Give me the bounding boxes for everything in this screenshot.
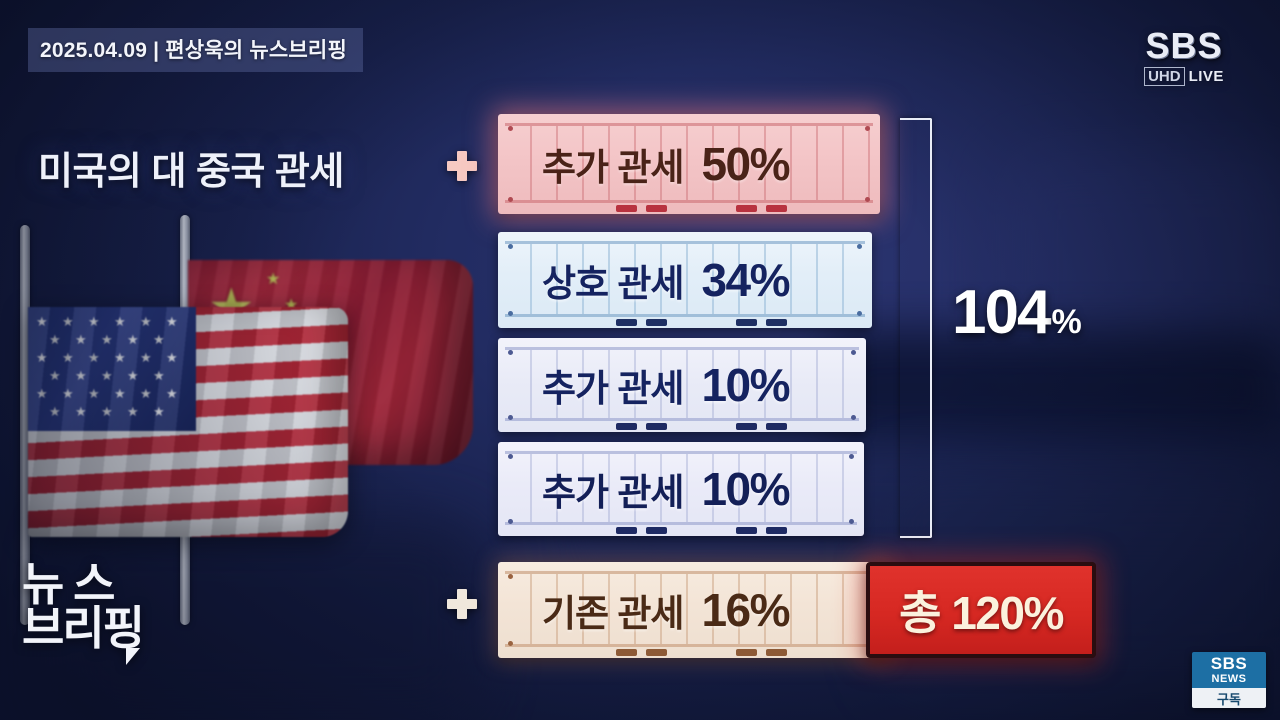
container-rail-bottom [505,418,859,421]
container-foot [766,205,787,212]
container-foot [646,319,667,326]
background-blur-shape [820,330,1280,450]
speech-bubble-tail-icon [126,648,140,665]
container-foot [616,423,637,430]
broadcast-screenshot: ★ ★ ★ ★ ★ ★★ ★★ ★★ ★★ ★★ ★ ★★ ★★ ★★ ★★ ★… [0,0,1280,720]
tariff-bar-additional-10-b: 추가 관세 10% [498,442,864,536]
tariff-value: 16% [701,583,789,637]
container-stud [508,415,513,420]
container-foot [616,649,637,656]
container-foot [766,319,787,326]
tariff-label: 추가 관세 [542,462,683,516]
container-stud [508,519,513,524]
container-stud [508,197,513,202]
page-title: 미국의 대 중국 관세 [38,140,344,195]
container-foot [736,527,757,534]
live-badge: LIVE [1189,68,1224,85]
container-stud [508,244,513,249]
container-rail-bottom [505,644,883,647]
tariff-bar-additional-50: 추가 관세 50% [498,114,880,214]
subtotal-percent-sign: % [1051,303,1081,342]
subscribe-section-text: NEWS [1212,674,1247,685]
container-stud [857,244,862,249]
subscribe-badge-brand: SBS NEWS [1192,652,1266,688]
container-foot [736,423,757,430]
container-foot [616,205,637,212]
tariff-value: 34% [701,253,789,307]
container-stud [849,519,854,524]
container-rail-top [505,123,873,126]
container-foot [766,527,787,534]
total-badge: 총 120% [866,562,1096,658]
container-foot [766,423,787,430]
container-rail-top [505,451,857,454]
container-stud [508,574,513,579]
sbs-logo: SBS UHD LIVE [1124,28,1244,86]
container-foot [616,319,637,326]
subtotal-bracket [900,118,932,538]
subscribe-action-row[interactable]: 구독 [1192,688,1266,708]
program-logo: 뉴 스 브리핑 [22,562,170,666]
china-flag-star: ★ [266,272,280,288]
tariff-value: 10% [701,462,789,516]
subtotal-value: 104 % [952,282,1082,344]
tariff-bar-additional-10-a: 추가 관세 10% [498,338,866,432]
tariff-label: 추가 관세 [542,137,683,191]
tariff-value: 50% [701,137,789,191]
container-foot [646,527,667,534]
container-stud [851,350,856,355]
container-foot [766,649,787,656]
subtotal-number: 104 [952,282,1049,344]
container-foot [736,319,757,326]
container-foot [736,649,757,656]
container-rail-bottom [505,314,865,317]
container-rail-bottom [505,522,857,525]
headline-strap: 2025.04.09 | 편상욱의 뉴스브리핑 [28,28,363,72]
sbs-wordmark: SBS [1124,28,1244,64]
container-foot [736,205,757,212]
container-rail-bottom [505,200,873,203]
subscribe-badge[interactable]: SBS NEWS 구독 [1192,652,1266,708]
total-text: 총 120% [899,577,1063,643]
container-foot [646,205,667,212]
container-rail-top [505,241,865,244]
tariff-label: 기존 관세 [542,583,683,637]
subscribe-action-text: 구독 [1217,689,1241,708]
container-stud [865,197,870,202]
container-stud [508,641,513,646]
container-foot [616,527,637,534]
plus-icon-top [447,151,477,181]
flag-ripple-shading [28,307,348,537]
tariff-bar-reciprocal-34: 상호 관세 34% [498,232,872,328]
plus-icon-bottom [447,589,477,619]
container-stud [857,311,862,316]
tariff-bar-existing-16: 기존 관세 16% [498,562,890,658]
container-stud [508,311,513,316]
container-rail-top [505,571,883,574]
uhd-badge: UHD [1144,67,1185,86]
tariff-value: 10% [701,358,789,412]
subscribe-brand-text: SBS [1211,655,1247,672]
container-stud [849,454,854,459]
container-stud [508,126,513,131]
container-stud [508,350,513,355]
container-foot [646,423,667,430]
program-logo-line1: 뉴 스 [22,562,170,606]
container-stud [851,415,856,420]
container-stud [508,454,513,459]
tariff-label: 추가 관세 [542,358,683,412]
tariff-label: 상호 관세 [542,253,683,307]
sbs-logo-subrow: UHD LIVE [1124,67,1244,86]
container-foot [646,649,667,656]
program-logo-line2: 브리핑 [22,606,170,650]
container-rail-top [505,347,859,350]
usa-flag: ★★ ★★ ★★ ★★ ★★ ★ ★★ ★★ ★★ ★★ ★★ ★ ★★ ★★ … [28,307,348,537]
container-stud [865,126,870,131]
